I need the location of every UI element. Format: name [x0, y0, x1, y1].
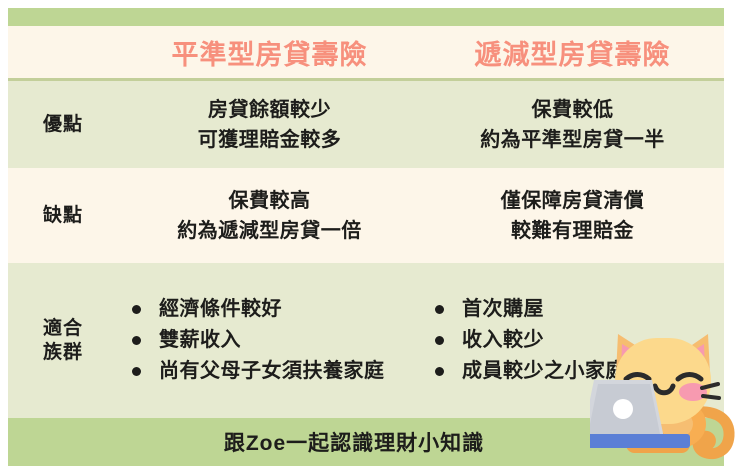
- target-group-list-level-term: 經濟條件較好 雙薪收入 尚有父母子女須扶養家庭: [132, 294, 385, 387]
- list-item: 首次購屋: [435, 294, 626, 325]
- row-label-cons: 缺點: [8, 204, 118, 228]
- row-label-target-group-line-1: 適合: [43, 318, 83, 339]
- top-green-band: [8, 8, 724, 26]
- target-group-cell-level-term: 經濟條件較好 雙薪收入 尚有父母子女須扶養家庭: [118, 294, 421, 387]
- bullet-dot-icon: [132, 305, 141, 314]
- footer-caption: 跟Zoe一起認識理財小知識: [224, 427, 484, 457]
- cons-cell-level-term: 保費較高 約為遞減型房貸一倍: [118, 186, 421, 246]
- column-title-decreasing-term: 遞減型房貸壽險: [421, 33, 724, 72]
- row-label-pros: 優點: [8, 113, 118, 137]
- target-group-list-decreasing-term: 首次購屋 收入較少 成員較少之小家庭: [435, 294, 626, 387]
- list-item: 雙薪收入: [132, 325, 385, 356]
- list-item: 收入較少: [435, 325, 626, 356]
- list-item-label: 尚有父母子女須扶養家庭: [159, 356, 385, 387]
- column-title-row: 平準型房貸壽險 遞減型房貸壽險: [8, 26, 724, 78]
- list-item-label: 雙薪收入: [159, 325, 241, 356]
- list-item: 尚有父母子女須扶養家庭: [132, 356, 385, 387]
- list-item-label: 收入較少: [462, 325, 544, 356]
- cons-level-line-1: 保費較高: [118, 186, 421, 216]
- row-label-target-group: 適合 族群: [8, 317, 118, 365]
- pros-row: 優點 房貸餘額較少 可獲理賠金較多 保費較低 約為平準型房貸一半: [8, 81, 724, 168]
- bullet-dot-icon: [132, 367, 141, 376]
- bullet-dot-icon: [435, 305, 444, 314]
- target-group-row: 適合 族群 經濟條件較好 雙薪收入 尚有父母子女須扶養家庭: [8, 263, 724, 418]
- list-item-label: 經濟條件較好: [159, 294, 282, 325]
- cons-row: 缺點 保費較高 約為遞減型房貸一倍 僅保障房貸清償 較難有理賠金: [8, 168, 724, 263]
- pros-decreasing-line-2: 約為平準型房貸一半: [421, 125, 724, 155]
- infographic-card: 平準型房貸壽險 遞減型房貸壽險 優點 房貸餘額較少 可獲理賠金較多 保費較低 約…: [0, 0, 740, 474]
- pros-decreasing-line-1: 保費較低: [421, 95, 724, 125]
- cons-cell-decreasing-term: 僅保障房貸清償 較難有理賠金: [421, 186, 724, 246]
- pros-level-line-1: 房貸餘額較少: [118, 95, 421, 125]
- bullet-dot-icon: [435, 336, 444, 345]
- row-label-target-group-line-2: 族群: [43, 342, 83, 363]
- list-item-label: 首次購屋: [462, 294, 544, 325]
- pros-level-line-2: 可獲理賠金較多: [118, 125, 421, 155]
- list-item: 成員較少之小家庭: [435, 356, 626, 387]
- list-item: 經濟條件較好: [132, 294, 385, 325]
- column-title-level-term: 平準型房貸壽險: [118, 33, 421, 72]
- cons-level-line-2: 約為遞減型房貸一倍: [118, 216, 421, 246]
- bullet-dot-icon: [435, 367, 444, 376]
- pros-cell-level-term: 房貸餘額較少 可獲理賠金較多: [118, 95, 421, 155]
- pros-cell-decreasing-term: 保費較低 約為平準型房貸一半: [421, 95, 724, 155]
- footer-row: 跟Zoe一起認識理財小知識: [8, 418, 724, 466]
- list-item-label: 成員較少之小家庭: [462, 356, 626, 387]
- cons-decreasing-line-2: 較難有理賠金: [421, 216, 724, 246]
- bullet-dot-icon: [132, 336, 141, 345]
- target-group-cell-decreasing-term: 首次購屋 收入較少 成員較少之小家庭: [421, 294, 724, 387]
- cons-decreasing-line-1: 僅保障房貸清償: [421, 186, 724, 216]
